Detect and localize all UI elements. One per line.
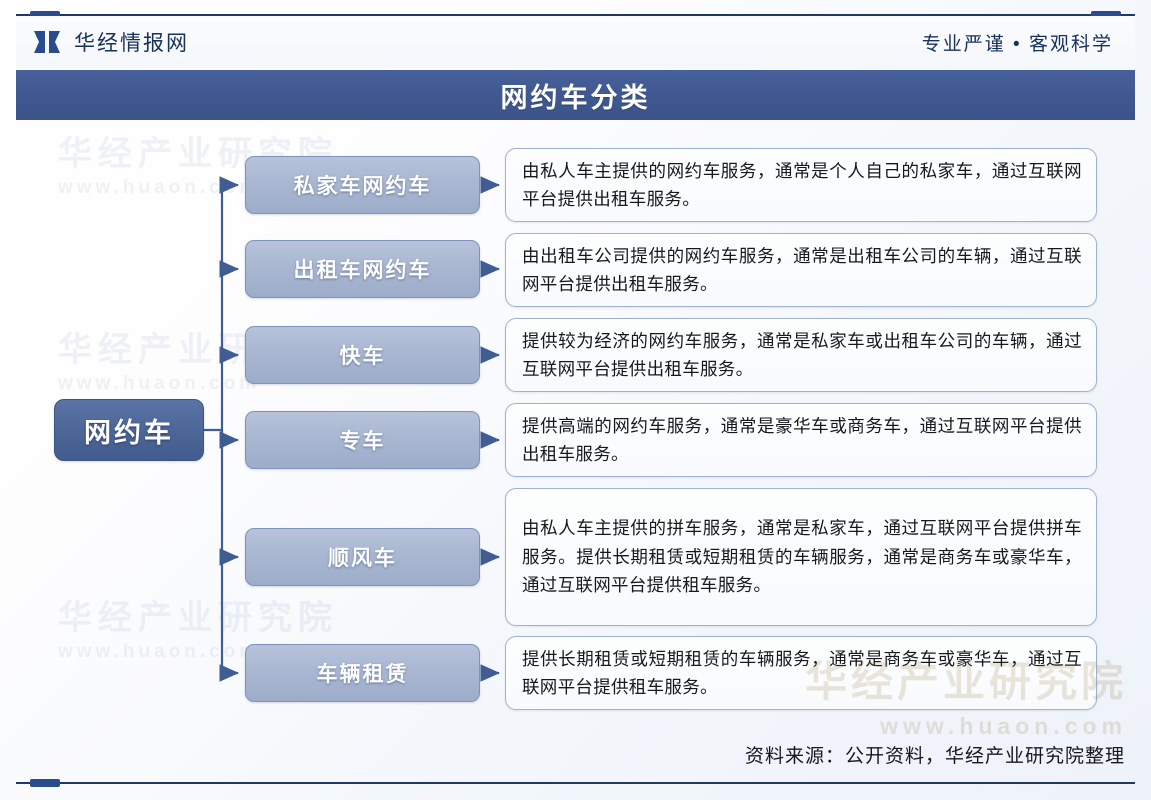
page-title: 网约车分类 bbox=[501, 76, 651, 115]
bottom-rule-tick-left bbox=[30, 779, 60, 787]
description-box-5: 由私人车主提供的拼车服务，通常是私家车，通过互联网平台提供拼车服务。提供长期租赁… bbox=[505, 488, 1097, 626]
category-node-label: 顺风车 bbox=[328, 542, 397, 572]
page-header: 华经情报网 专业严谨 • 客观科学 bbox=[16, 16, 1135, 68]
header-tagline: 专业严谨 • 客观科学 bbox=[922, 29, 1113, 56]
description-box-3: 提供较为经济的网约车服务，通常是私家车或出租车公司的车辆，通过互联网平台提供出租… bbox=[505, 318, 1097, 392]
description-text: 提供较为经济的网约车服务，通常是私家车或出租车公司的车辆，通过互联网平台提供出租… bbox=[522, 327, 1082, 384]
category-node-3[interactable]: 快车 bbox=[245, 326, 480, 384]
category-node-1[interactable]: 私家车网约车 bbox=[245, 156, 480, 214]
brand-name: 华经情报网 bbox=[74, 27, 189, 57]
category-node-2[interactable]: 出租车网约车 bbox=[245, 240, 480, 298]
description-text: 提供高端的网约车服务，通常是豪华车或商务车，通过互联网平台提供出租车服务。 bbox=[522, 412, 1082, 469]
root-node-label: 网约车 bbox=[84, 411, 174, 450]
category-node-label: 出租车网约车 bbox=[294, 254, 432, 284]
title-bar: 网约车分类 bbox=[16, 70, 1135, 120]
description-text: 由私人车主提供的网约车服务，通常是个人自己的私家车，通过互联网平台提供出租车服务… bbox=[522, 157, 1082, 214]
category-node-label: 车辆租赁 bbox=[317, 658, 409, 688]
description-box-1: 由私人车主提供的网约车服务，通常是个人自己的私家车，通过互联网平台提供出租车服务… bbox=[505, 148, 1097, 222]
source-note: 资料来源：公开资料，华经产业研究院整理 bbox=[745, 741, 1125, 768]
root-node[interactable]: 网约车 bbox=[54, 399, 204, 461]
classification-diagram: 网约车 私家车网约车 出租车网约车 快车 专车 顺风车 车辆租赁 由私人车主提供… bbox=[0, 130, 1151, 730]
description-text: 由私人车主提供的拼车服务，通常是私家车，通过互联网平台提供拼车服务。提供长期租赁… bbox=[522, 514, 1082, 599]
brand: 华经情报网 bbox=[32, 27, 189, 57]
page-footer: 资料来源：公开资料，华经产业研究院整理 bbox=[16, 734, 1125, 774]
category-node-5[interactable]: 顺风车 bbox=[245, 528, 480, 586]
description-box-2: 由出租车公司提供的网约车服务，通常是出租车公司的车辆，通过互联网平台提供出租车服… bbox=[505, 233, 1097, 307]
description-box-4: 提供高端的网约车服务，通常是豪华车或商务车，通过互联网平台提供出租车服务。 bbox=[505, 403, 1097, 477]
category-node-label: 快车 bbox=[340, 340, 386, 370]
category-node-label: 专车 bbox=[340, 425, 386, 455]
description-box-6: 提供长期租赁或短期租赁的车辆服务，通常是商务车或豪华车，通过互联网平台提供租车服… bbox=[505, 636, 1097, 710]
category-node-4[interactable]: 专车 bbox=[245, 411, 480, 469]
description-text: 提供长期租赁或短期租赁的车辆服务，通常是商务车或豪华车，通过互联网平台提供租车服… bbox=[522, 645, 1082, 702]
description-text: 由出租车公司提供的网约车服务，通常是出租车公司的车辆，通过互联网平台提供出租车服… bbox=[522, 242, 1082, 299]
infographic-page: 华经情报网 专业严谨 • 客观科学 网约车分类 华经产业研究院 www.huao… bbox=[0, 0, 1151, 800]
category-node-label: 私家车网约车 bbox=[294, 170, 432, 200]
bottom-rule bbox=[16, 782, 1135, 784]
category-node-6[interactable]: 车辆租赁 bbox=[245, 644, 480, 702]
huajing-logo-icon bbox=[32, 29, 62, 55]
